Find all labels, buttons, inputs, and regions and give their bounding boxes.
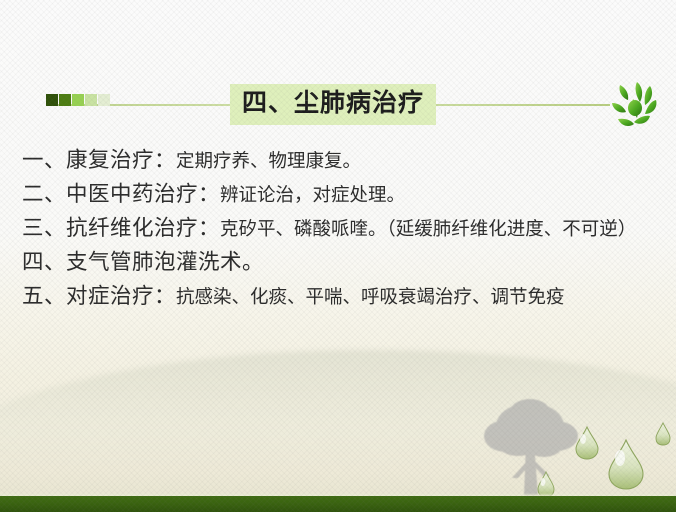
page-title: 四、尘肺病治疗 bbox=[242, 88, 424, 119]
slide-title-box: 四、尘肺病治疗 bbox=[230, 84, 436, 125]
list-item-lead: 三、抗纤维化治疗： bbox=[22, 216, 220, 241]
presentation-slide: 四、尘肺病治疗 bbox=[0, 0, 676, 512]
slide-background-scenery bbox=[0, 282, 676, 512]
strip-highlight bbox=[0, 493, 676, 496]
water-droplet-icon bbox=[654, 422, 672, 446]
list-item: 三、抗纤维化治疗：克矽平、磷酸哌喹。（延缓肺纤维化进度、不可逆） bbox=[22, 212, 666, 246]
list-item-detail: 辨证论治，对症处理。 bbox=[220, 185, 405, 206]
swatch-3 bbox=[72, 94, 84, 106]
list-item-detail: 抗感染、化痰、平喘、呼吸衰竭治疗、调节免疫 bbox=[176, 287, 565, 308]
slide-header: 四、尘肺病治疗 bbox=[0, 84, 676, 126]
list-item-detail: 定期疗养、物理康复。 bbox=[176, 151, 361, 172]
water-droplet-icon bbox=[574, 426, 600, 460]
swatch-2 bbox=[59, 94, 71, 106]
list-item-detail: 克矽平、磷酸哌喹。（延缓肺纤维化进度、不可逆） bbox=[220, 219, 636, 240]
hill-shape bbox=[0, 350, 676, 470]
treatment-list: 一、康复治疗：定期疗养、物理康复。 二、中医中药治疗：辨证论治，对症处理。 三、… bbox=[22, 144, 666, 314]
list-item: 一、康复治疗：定期疗养、物理康复。 bbox=[22, 144, 666, 178]
tree-silhouette-icon bbox=[472, 392, 592, 496]
list-item-lead: 二、中医中药治疗： bbox=[22, 182, 220, 207]
list-item: 四、支气管肺泡灌洗术。 bbox=[22, 246, 666, 280]
swatch-4 bbox=[85, 94, 97, 106]
water-droplet-icon bbox=[606, 438, 646, 490]
list-item-lead: 一、康复治疗： bbox=[22, 148, 176, 173]
green-leaf-icon bbox=[606, 78, 662, 130]
water-droplet-icon bbox=[536, 471, 556, 498]
swatch-group bbox=[46, 94, 110, 106]
list-item-lead: 四、支气管肺泡灌洗术。 bbox=[22, 250, 264, 275]
bottom-green-strip bbox=[0, 496, 676, 512]
list-item: 五、对症治疗：抗感染、化痰、平喘、呼吸衰竭治疗、调节免疫 bbox=[22, 280, 666, 314]
list-item: 二、中医中药治疗：辨证论治，对症处理。 bbox=[22, 178, 666, 212]
list-item-lead: 五、对症治疗： bbox=[22, 284, 176, 309]
swatch-1 bbox=[46, 94, 58, 106]
swatch-5 bbox=[98, 94, 110, 106]
